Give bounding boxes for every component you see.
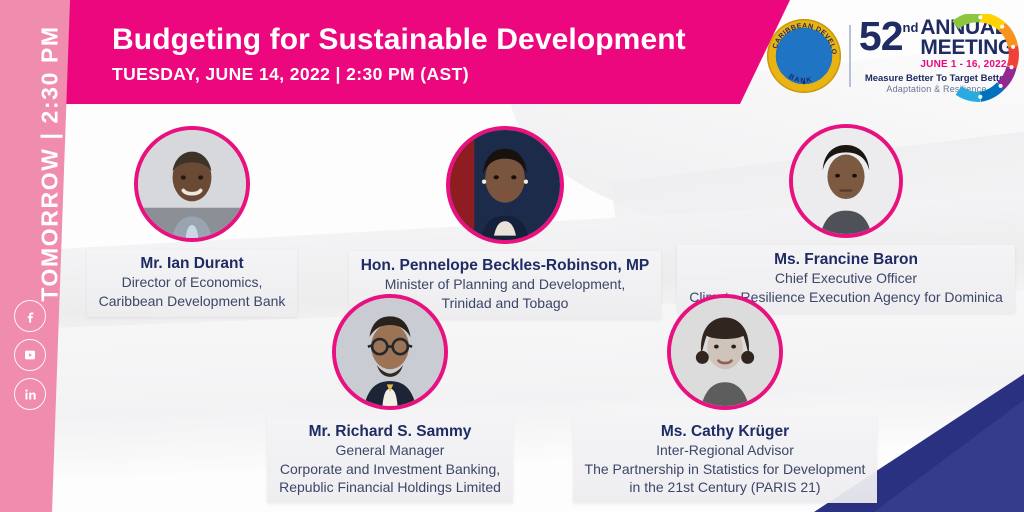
speaker-name-3: Ms. Francine Baron	[689, 250, 1003, 269]
speaker-name-4: Mr. Richard S. Sammy	[279, 422, 501, 441]
speaker-card-2: Hon. Pennelope Beckles-Robinson, MP Mini…	[335, 126, 675, 319]
speaker-card-5: Ms. Cathy Krüger Inter-Regional Advisor …	[560, 294, 890, 503]
meeting-number: 52	[859, 18, 903, 54]
event-datetime: TUESDAY, JUNE 14, 2022 | 2:30 PM (AST)	[112, 64, 686, 85]
logo-divider	[849, 25, 851, 87]
caribbean-development-bank-seal-icon: CARIBBEAN DEVELOPMENT BANK	[767, 19, 841, 93]
francine-baron-photo	[789, 124, 903, 238]
speaker-line-4-0: General Manager	[279, 441, 501, 459]
avatar-wrap-5	[560, 294, 890, 410]
speaker-line-3-0: Chief Executive Officer	[689, 269, 1003, 287]
speaker-caption-4: Mr. Richard S. Sammy General Manager Cor…	[267, 417, 513, 503]
richard-sammy-photo	[332, 294, 448, 410]
speaker-line-5-2: in the 21st Century (PARIS 21)	[585, 478, 866, 496]
speaker-card-1: Mr. Ian Durant Director of Economics, Ca…	[62, 126, 322, 317]
youtube-icon[interactable]	[14, 339, 46, 371]
pennelope-beckles-robinson-photo	[446, 126, 564, 244]
speaker-caption-5: Ms. Cathy Krüger Inter-Regional Advisor …	[573, 417, 878, 503]
avatar-wrap-4	[225, 294, 555, 410]
speaker-line-2-0: Minister of Planning and Development,	[361, 275, 650, 293]
puzzle-arc-icon	[946, 14, 1024, 104]
avatar-wrap-3	[676, 124, 1016, 238]
speaker-card-3: Ms. Francine Baron Chief Executive Offic…	[676, 124, 1016, 313]
speaker-line-4-1: Corporate and Investment Banking,	[279, 460, 501, 478]
speaker-line-4-2: Republic Financial Holdings Limited	[279, 478, 501, 496]
speaker-line-5-1: The Partnership in Statistics for Develo…	[585, 460, 866, 478]
ian-durant-photo	[134, 126, 250, 242]
avatar-wrap-2	[335, 126, 675, 244]
corner-navy-triangle-accent	[874, 400, 1024, 512]
speaker-line-5-0: Inter-Regional Advisor	[585, 441, 866, 459]
social-icons	[14, 300, 46, 410]
annual-meeting-logo: 52 nd ANNUAL MEETING JUNE 1 - 16, 2022 M…	[859, 18, 1016, 94]
speaker-card-4: Mr. Richard S. Sammy General Manager Cor…	[225, 294, 555, 503]
linkedin-icon[interactable]	[14, 378, 46, 410]
page-title: Budgeting for Sustainable Development	[112, 24, 686, 56]
cathy-kruger-photo	[667, 294, 783, 410]
speaker-name-1: Mr. Ian Durant	[99, 254, 286, 273]
avatar-wrap-1	[62, 126, 322, 242]
caribbean-map-icon	[779, 34, 829, 78]
header-text-block: Budgeting for Sustainable Development TU…	[112, 24, 686, 85]
facebook-icon[interactable]	[14, 300, 46, 332]
speaker-line-1-0: Director of Economics,	[99, 273, 286, 291]
logo-lockup: CARIBBEAN DEVELOPMENT BANK 52 nd	[767, 10, 1016, 102]
speaker-name-2: Hon. Pennelope Beckles-Robinson, MP	[361, 256, 650, 275]
speaker-name-5: Ms. Cathy Krüger	[585, 422, 866, 441]
event-promo-poster: TOMORROW | 2:30 PM	[0, 0, 1024, 512]
meeting-ordinal: nd	[903, 20, 919, 35]
